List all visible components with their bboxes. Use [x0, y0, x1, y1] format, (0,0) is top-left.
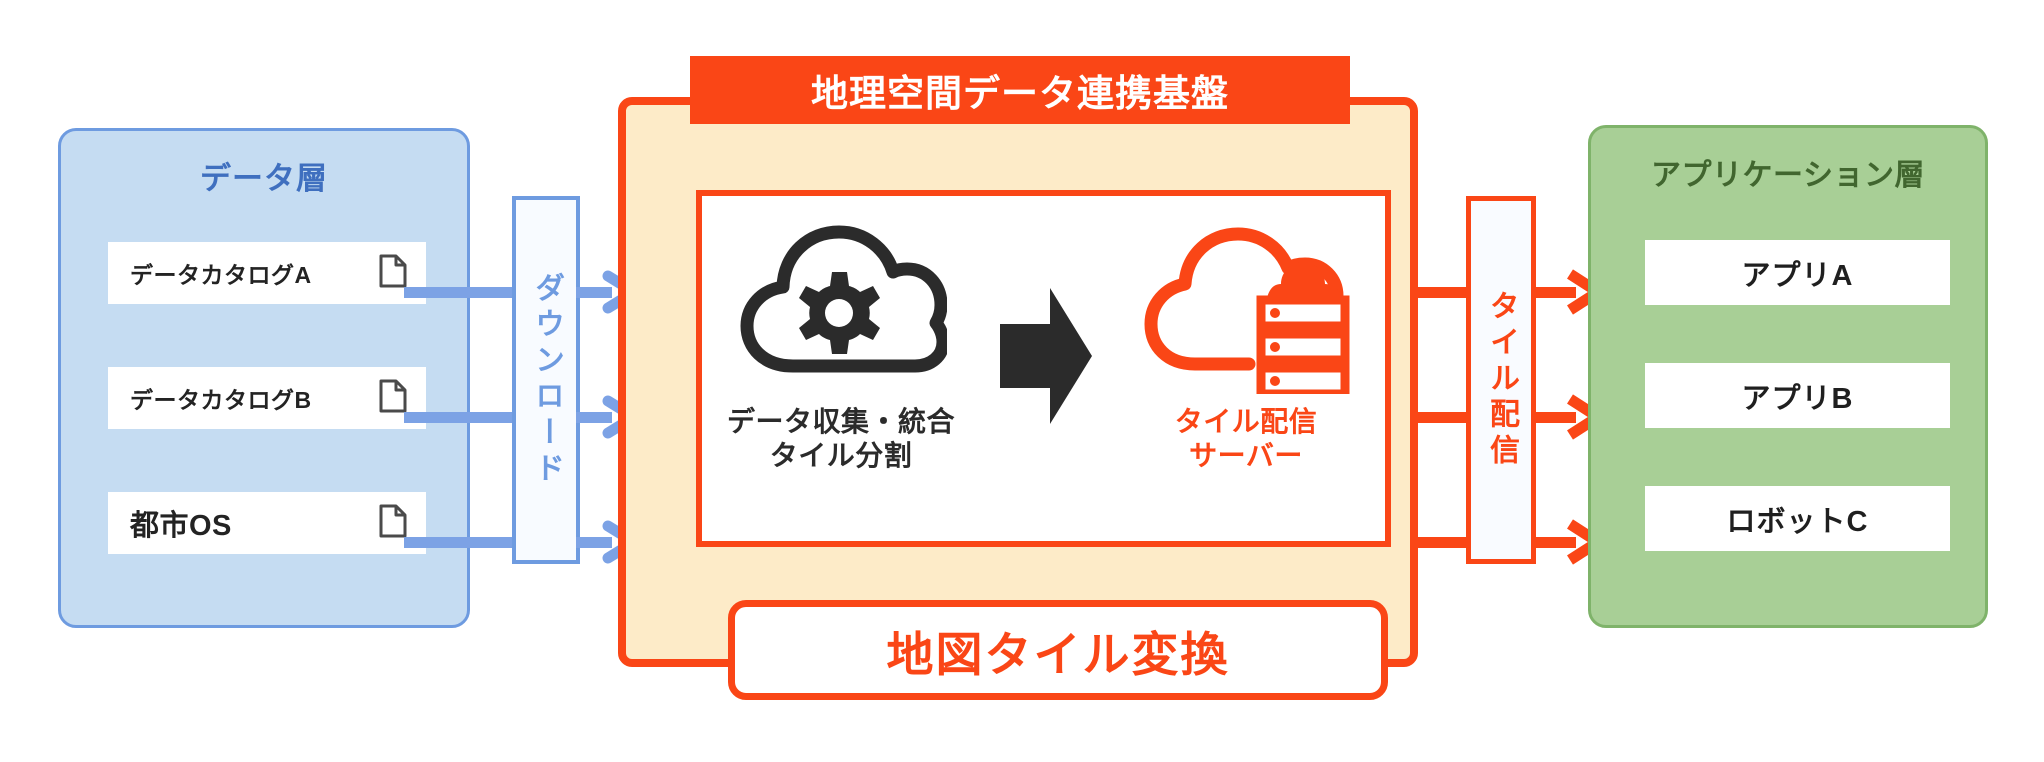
- data-layer-title: データ層: [61, 153, 467, 198]
- platform-title-banner: 地理空間データ連携基盤: [690, 56, 1350, 124]
- app-item-robot-c[interactable]: ロボットC: [1645, 486, 1950, 551]
- app-item-app-a[interactable]: アプリA: [1645, 240, 1950, 305]
- connector-line-platform-c: [1410, 537, 1474, 548]
- connector-line-platform-a: [1410, 287, 1474, 298]
- connector-line-city-os: [404, 537, 516, 548]
- cloud-gear-icon: [735, 214, 947, 399]
- platform-title-text: 地理空間データ連携基盤: [811, 63, 1229, 117]
- process-caption-line-1: データ収集・統合: [727, 405, 955, 439]
- connector-line-platform-b: [1410, 412, 1474, 423]
- process-stage-distribute-caption: タイル配信 サーバー: [1175, 405, 1318, 473]
- app-item-label: ロボットC: [1727, 498, 1869, 540]
- download-connector-label: ダウンロード: [512, 196, 580, 564]
- app-item-app-b[interactable]: アプリB: [1645, 363, 1950, 428]
- cloud-server-icon: [1137, 214, 1355, 399]
- data-item-label: 都市OS: [130, 502, 232, 544]
- diagram-canvas: データ層 データカタログA データカタログB 都市OS: [0, 0, 2044, 762]
- data-item-label: データカタログA: [130, 256, 312, 290]
- process-caption-line-2: タイル分割: [727, 439, 955, 473]
- data-item-data-catalog-b[interactable]: データカタログB: [108, 367, 426, 429]
- tile-distribution-connector-label: タイル配信: [1466, 196, 1536, 564]
- tile-distribution-connector-text: タイル配信: [1486, 290, 1516, 470]
- connector-line-catalog-b: [404, 412, 516, 423]
- map-tile-conversion-box: 地図タイル変換: [728, 600, 1388, 700]
- connector-line-catalog-a: [404, 287, 516, 298]
- process-stage-ingest-caption: データ収集・統合 タイル分割: [727, 405, 955, 473]
- map-tile-conversion-label: 地図タイル変換: [887, 616, 1230, 685]
- right-arrow-icon: [988, 276, 1100, 436]
- app-item-label: アプリB: [1742, 375, 1854, 417]
- data-item-label: データカタログB: [130, 381, 312, 415]
- download-connector-text: ダウンロード: [531, 272, 561, 488]
- application-layer-panel: アプリケーション層 アプリA アプリB ロボットC: [1588, 125, 1988, 628]
- data-layer-panel: データ層 データカタログA データカタログB 都市OS: [58, 128, 470, 628]
- app-item-label: アプリA: [1742, 252, 1854, 294]
- data-item-data-catalog-a[interactable]: データカタログA: [108, 242, 426, 304]
- process-stage-ingest: データ収集・統合 タイル分割: [716, 214, 966, 534]
- process-stage-distribute: タイル配信 サーバー: [1121, 214, 1371, 534]
- application-layer-title: アプリケーション層: [1591, 150, 1985, 194]
- process-box: データ収集・統合 タイル分割: [696, 190, 1391, 547]
- data-item-city-os[interactable]: 都市OS: [108, 492, 426, 554]
- process-caption-line-1: タイル配信: [1175, 405, 1318, 439]
- process-caption-line-2: サーバー: [1175, 439, 1318, 473]
